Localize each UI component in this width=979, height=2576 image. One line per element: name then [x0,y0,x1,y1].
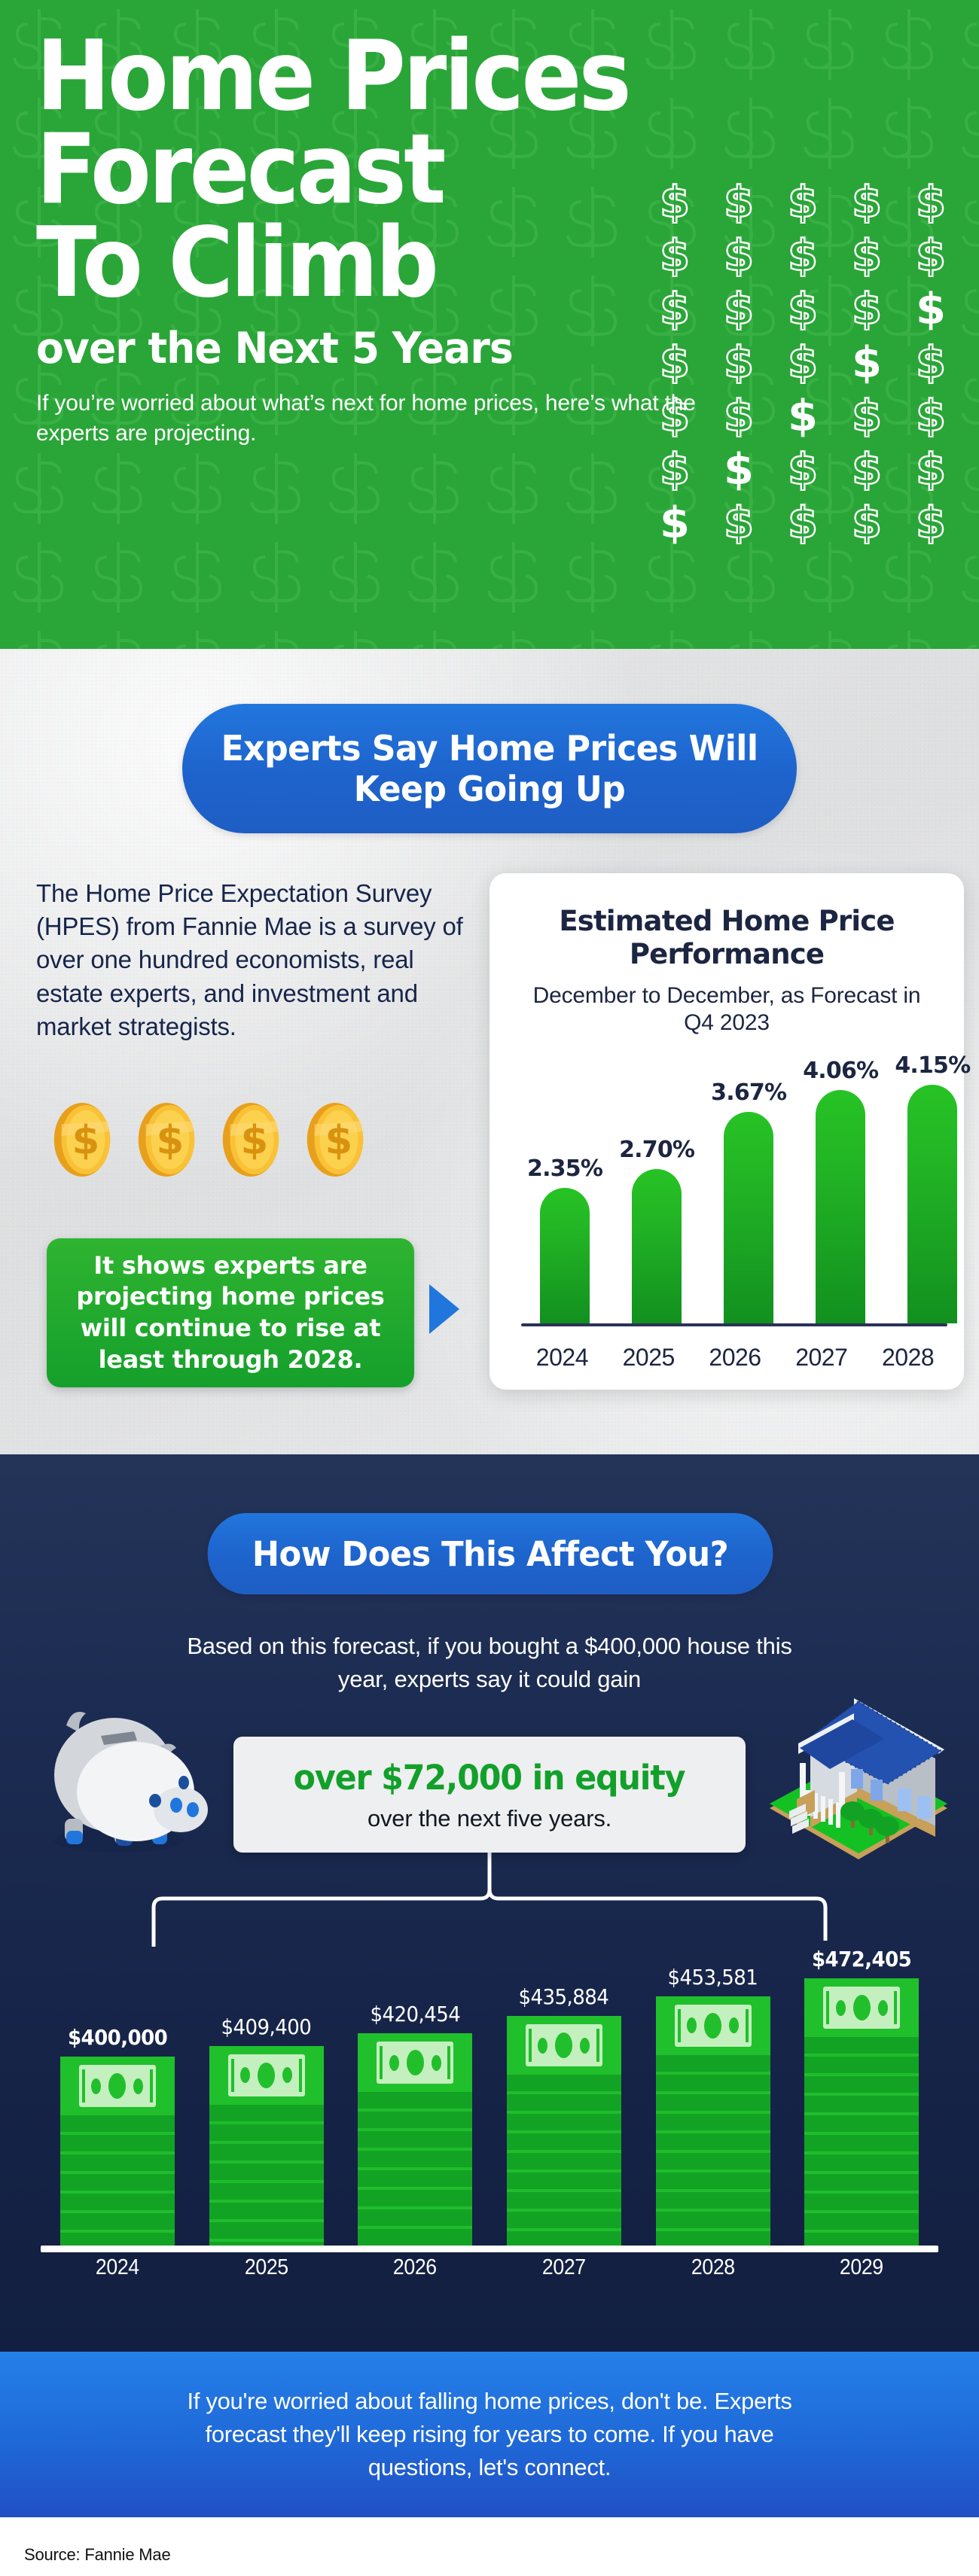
money-value-label: $400,000 [68,2025,167,2050]
money-bar-top-bill [507,2016,621,2075]
x-tick-label: 2026 [355,2255,474,2288]
x-tick-label: 2027 [786,1344,856,1372]
money-bar [358,2033,472,2246]
svg-text:$: $ [788,231,818,277]
dollar-sign-icon: $ [901,282,961,332]
x-tick-label: 2025 [614,1344,684,1372]
money-bars: $400,000$409,400$420,454$435,884$453,581… [32,1947,947,2246]
source-band: Source: Fannie Mae [0,2517,979,2576]
dollar-sign-icon: $ [773,495,832,546]
money-bar-group: $453,581 [648,1947,778,2246]
equity-callout: over $72,000 in equity over the next fiv… [233,1737,746,1853]
hero-section: $$$$$$$$$$$$$$$$$$$$$$$$$$$$$$$$$$$ Home… [0,0,979,649]
bar [540,1188,590,1323]
triangle-right-icon [429,1284,459,1334]
forecast-lede: Based on this forecast, if you bought a … [173,1630,806,1696]
footer-cta-text: If you're worried about falling home pri… [151,2385,828,2484]
x-tick-label: 2029 [802,2255,921,2288]
bar-value-label: 3.67% [711,1079,786,1106]
svg-text:$: $ [788,498,818,544]
svg-text:$: $ [852,391,882,437]
dollar-sign-icon: $ [901,228,961,279]
svg-text:$: $ [916,445,946,491]
x-tick-label: 2028 [873,1344,943,1372]
dollar-sign-icon: $ [773,175,832,225]
svg-text:$: $ [852,178,882,224]
money-value-label: $409,400 [221,2014,312,2039]
svg-text:$: $ [72,1118,99,1164]
title-line-3: To Climb [36,217,715,310]
badge-experts-say: Experts Say Home Prices Will Keep Going … [182,704,797,833]
chart-subtitle: December to December, as Forecast in Q4 … [517,982,937,1037]
bar [907,1085,957,1323]
equity-headline: over $72,000 in equity [294,1758,685,1798]
dollar-sign-icon: $ [773,388,832,439]
svg-text:$: $ [852,338,882,384]
money-bar [656,1996,770,2246]
dollar-sign-icon: $ [837,335,897,385]
hero-copy-block: Home Prices Forecast To Climb over the N… [36,30,774,449]
money-bar-group: $409,400 [202,1947,331,2246]
svg-text:$: $ [660,445,690,491]
dollar-sign-icon: $ [901,388,961,439]
svg-text:$: $ [724,445,754,491]
money-bar [507,2016,621,2246]
money-bar [209,2046,324,2246]
dollar-bill-icon [675,2005,752,2047]
bar-value-label: 4.15% [895,1052,970,1079]
dollar-sign-icon: $ [837,442,897,492]
money-bar-top-bill [209,2046,324,2105]
money-value-label: $435,884 [519,1984,609,2009]
chart-plot-area: 2.35%2.70%3.67%4.06%4.15% [527,1052,943,1323]
chart-x-tick-labels: 20242025202620272028 [527,1344,943,1372]
callout-green: It shows experts are projecting home pri… [47,1238,414,1387]
dollar-bill-icon [377,2042,453,2084]
money-x-axis-line [41,2246,938,2252]
money-bar [804,1978,919,2246]
svg-text:$: $ [916,178,946,224]
dollar-bill-icon [823,1987,900,2029]
money-bar-top-bill [804,1978,919,2037]
x-tick-label: 2024 [527,1344,597,1372]
bar-group: 3.67% [711,1052,786,1323]
money-value-label: $420,454 [370,2002,460,2026]
dollar-sign-icon: $ [645,442,704,492]
x-tick-label: 2028 [654,2255,773,2288]
bar-group: 2.35% [527,1052,602,1323]
source-label: Source: Fannie Mae [24,2545,171,2565]
money-bar-group: $400,000 [53,1947,182,2246]
title-line-1: Home Prices [36,30,715,123]
svg-text:$: $ [788,445,818,491]
dollar-sign-icon: $ [645,495,704,546]
bar-value-label: 2.70% [619,1137,694,1163]
page-title: Home Prices Forecast To Climb [36,30,715,310]
dollar-sign-icon: $ [773,335,832,385]
dollar-sign-icon: $ [837,228,897,279]
bar [724,1112,773,1323]
bar-group: 4.06% [803,1052,878,1323]
svg-text:$: $ [240,1118,268,1164]
svg-text:$: $ [660,498,690,544]
gold-coin-icon: $ [214,1099,288,1180]
bar-value-label: 4.06% [803,1058,878,1084]
money-bar-top-bill [358,2033,472,2092]
hero-lede: If you’re worried about what’s next for … [36,388,714,448]
dollar-sign-icon: $ [837,495,897,546]
x-tick-label: 2025 [207,2255,326,2288]
dollar-bill-icon [79,2065,156,2107]
svg-text:$: $ [788,338,818,384]
dollar-sign-icon: $ [901,175,961,225]
dollar-sign-icon: $ [901,495,961,546]
dollar-sign-icon: $ [709,495,768,546]
money-bar [60,2057,175,2246]
footer-cta-band: If you're worried about falling home pri… [0,2352,979,2517]
svg-text:$: $ [852,231,882,277]
chart-x-axis-line [521,1323,947,1326]
chart-title: Estimated Home Price Performance [517,905,937,970]
money-bar-group: $472,405 [797,1947,926,2246]
badge-how-does-this-affect-you: How Does This Affect You? [208,1513,773,1594]
svg-text:$: $ [916,391,946,437]
svg-text:$: $ [916,338,946,384]
coin-row: $ $ $ $ [45,1099,372,1180]
money-x-tick-labels: 202420252026202720282029 [32,2255,947,2288]
svg-text:$: $ [788,178,818,224]
dollar-sign-icon: $ [901,335,961,385]
dollar-sign-icon: $ [837,388,897,439]
svg-text:$: $ [916,498,946,544]
svg-text:$: $ [788,285,818,330]
piggy-bank-icon [36,1686,211,1853]
money-bar-group: $420,454 [350,1947,480,2246]
money-value-label: $453,581 [668,1965,758,1990]
dollar-sign-icon: $ [709,442,768,492]
gold-coin-icon: $ [130,1099,203,1180]
house-icon [767,1679,950,1868]
infographic-page: $$$$$$$$$$$$$$$$$$$$$$$$$$$$$$$$$$$ Home… [0,0,979,2576]
gold-coin-icon: $ [45,1099,119,1180]
x-tick-label: 2026 [700,1344,770,1372]
chart-card-home-price-performance: Estimated Home Price Performance Decembe… [489,873,964,1390]
dollar-sign-icon: $ [773,442,832,492]
hpes-description: The Home Price Expectation Survey (HPES)… [36,877,470,1043]
money-value-label: $472,405 [812,1947,911,1972]
x-tick-label: 2027 [505,2255,624,2288]
dollar-sign-icon: $ [901,442,961,492]
svg-text:$: $ [916,231,946,277]
x-tick-label: 2024 [58,2255,177,2288]
chart-money-stacks: $400,000$409,400$420,454$435,884$453,581… [32,1927,947,2288]
svg-text:$: $ [724,498,754,544]
money-bar-group: $435,884 [499,1947,629,2246]
dollar-sign-icon: $ [773,282,832,332]
gold-coin-icon: $ [298,1099,372,1180]
title-line-2: Forecast [36,123,715,217]
money-bar-top-bill [656,1996,770,2055]
bar-group: 2.70% [619,1052,694,1323]
svg-text:$: $ [852,445,882,491]
svg-text:$: $ [916,285,946,330]
dollar-sign-icon: $ [837,282,897,332]
dollar-bill-icon [526,2024,602,2066]
bar-group: 4.15% [895,1052,970,1323]
svg-text:$: $ [156,1118,184,1164]
bar [816,1090,865,1323]
dollar-sign-icon: $ [837,175,897,225]
svg-text:$: $ [852,285,882,330]
hero-subtitle: over the Next 5 Years [36,327,730,372]
equity-subtext: over the next five years. [368,1805,611,1832]
svg-text:$: $ [788,391,818,437]
money-bar-top-bill [60,2057,175,2115]
dollar-bill-icon [228,2054,305,2096]
dollar-sign-icon: $ [773,228,832,279]
bar-value-label: 2.35% [527,1156,602,1182]
svg-text:$: $ [325,1118,352,1164]
bar [632,1169,682,1323]
svg-text:$: $ [852,498,882,544]
